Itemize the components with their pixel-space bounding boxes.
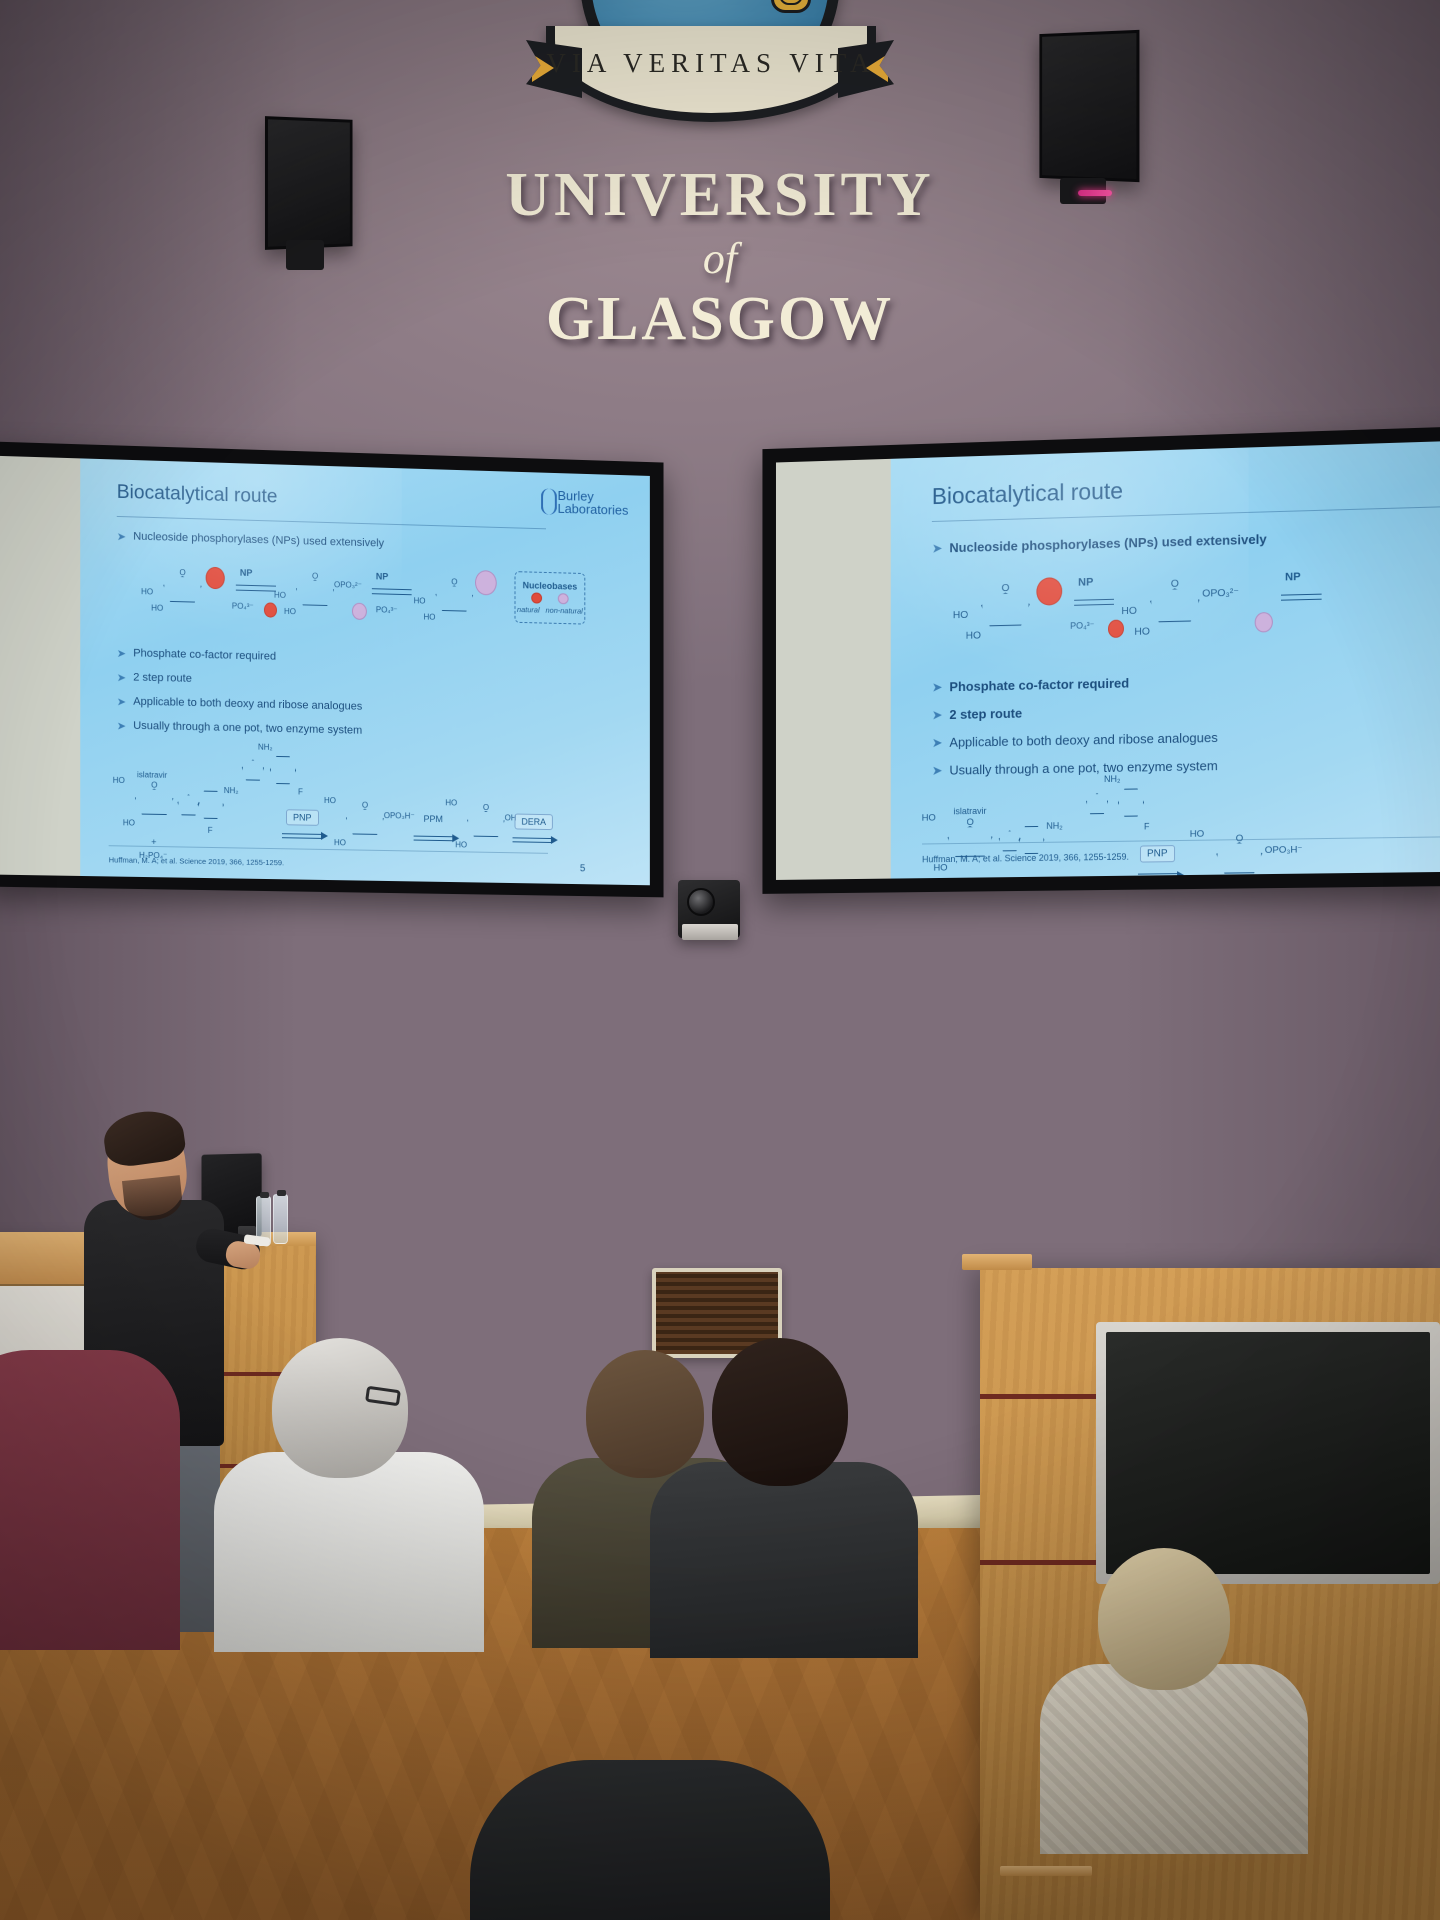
atom-nh2-2: NH₂	[258, 743, 273, 752]
bullet-text: Applicable to both deoxy and ribose anal…	[133, 696, 362, 713]
enzyme-box-pnp: PNP	[286, 809, 319, 826]
university-word: UNIVERSITY	[470, 160, 970, 231]
atom-o: O	[179, 568, 185, 577]
bullet-chevron-icon: ➤	[932, 735, 943, 751]
university-crest: VIA VERITAS VITA	[520, 0, 900, 180]
sugar-phosphate: HO HO O OPO₃H⁻	[1216, 842, 1262, 874]
left-screen-surface: Biocatalytical route Burley Laboratories…	[0, 456, 650, 885]
speaker-led-indicator	[1078, 190, 1112, 196]
atom-ho: HO	[445, 798, 457, 807]
enzyme-label-np-1: NP	[1078, 576, 1093, 588]
university-wall-lettering: UNIVERSITY of GLASGOW	[470, 160, 970, 355]
camera-lens-icon	[687, 888, 715, 916]
bullet-chevron-icon: ➤	[117, 671, 126, 684]
bullet-text: Nucleoside phosphorylases (NPs) used ext…	[949, 532, 1266, 556]
atom-o-2: O	[312, 572, 318, 581]
bullet-1: ➤ Phosphate co-factor required	[117, 647, 276, 664]
bullet-4: ➤ Usually through a one pot, two enzyme …	[932, 758, 1218, 779]
atom-o: O	[483, 803, 489, 812]
audience-member-blonde-head	[1098, 1548, 1230, 1690]
wall-speaker-left	[265, 116, 353, 250]
atom-ho: HO	[455, 840, 467, 849]
bullet-4: ➤ Usually through a one pot, two enzyme …	[117, 719, 362, 737]
bullet-text: Phosphate co-factor required	[133, 647, 276, 662]
atom-o-3: O	[451, 577, 457, 586]
crest-motto-ribbon: VIA VERITAS VITA	[520, 20, 900, 150]
atom-ho-2: HO	[151, 603, 163, 612]
of-word: of	[470, 233, 970, 284]
audience-member-grey-shoulders	[214, 1452, 484, 1652]
atom-ho: HO	[966, 629, 981, 641]
atom-nh2: NH₂	[224, 786, 239, 795]
atom-ho: HO	[953, 609, 968, 621]
cabinet-monitor-screen	[1106, 1332, 1430, 1574]
bullet-0: ➤ Nucleoside phosphorylases (NPs) used e…	[117, 530, 384, 551]
cofactor-label-1: PO₄³⁻	[1070, 620, 1094, 632]
camera-mount-base	[682, 924, 738, 940]
equilibrium-arrow-1	[236, 582, 276, 595]
atom-ho: HO	[324, 796, 336, 805]
bullet-chevron-icon: ➤	[932, 707, 943, 723]
bullet-chevron-icon: ➤	[932, 763, 943, 779]
legend-nonnatural-label: non-natural	[546, 606, 583, 616]
equilibrium-arrow-2	[372, 585, 412, 598]
cabinet-handle[interactable]	[1000, 1866, 1092, 1876]
cofactor-label-2: PO₄³⁻	[376, 605, 398, 615]
audience-member-brown-head	[586, 1350, 704, 1478]
sugar-2: HO HO O OPO₃²⁻	[296, 579, 334, 606]
atom-o: O	[966, 816, 973, 827]
nucleobase-released-blob	[1108, 620, 1124, 638]
phosphate-label: OPO₃²⁻	[334, 580, 362, 590]
islatravir-sugar: HO HO O	[135, 788, 173, 815]
audience-member-blonde-shoulders	[1040, 1664, 1308, 1854]
nucleobase-released-blob	[264, 602, 277, 617]
audience-member-maroon	[0, 1350, 180, 1650]
bullet-3: ➤ Applicable to both deoxy and ribose an…	[117, 695, 362, 714]
dna-helix-icon	[541, 489, 553, 515]
slide-title-rule	[117, 516, 546, 529]
left-projection-screen: Biocatalytical route Burley Laboratories…	[0, 441, 664, 897]
bullet-chevron-icon: ➤	[932, 679, 943, 695]
bullet-text: Nucleoside phosphorylases (NPs) used ext…	[133, 531, 384, 550]
reaction-arrow-1	[1138, 871, 1184, 879]
legend-caption: Nucleobases	[523, 580, 578, 591]
enzyme-label-np-2: NP	[1285, 571, 1301, 584]
top-reaction-scheme: HO HO O NP PO₄³⁻ HO HO O OPO₃²⁻	[143, 559, 562, 642]
slide-right: Biocatalytical route ➤ Nucleoside phosph…	[891, 441, 1440, 878]
glasgow-word: GLASGOW	[470, 284, 970, 355]
nucleobase-nonnatural-blob-in	[352, 603, 367, 620]
burley-laboratories-logo: Burley Laboratories	[541, 488, 629, 517]
bullet-text: Usually through a one pot, two enzyme sy…	[949, 758, 1217, 778]
atom-ho-6: HO	[424, 612, 436, 621]
logo-text: Burley Laboratories	[558, 489, 629, 517]
slide-title: Biocatalytical route	[932, 477, 1123, 510]
crest-bell-icon	[771, 0, 811, 13]
atom-o: O	[1236, 832, 1244, 843]
slide-left: Biocatalytical route Burley Laboratories…	[80, 458, 650, 885]
bottom-synthesis-scheme: islatravir HO HO O NH₂ NH₂ F	[918, 782, 1440, 879]
lecture-hall-photo: VIA VERITAS VITA UNIVERSITY of GLASGOW B…	[0, 0, 1440, 1920]
right-projection-screen: Biocatalytical route ➤ Nucleoside phosph…	[762, 426, 1440, 893]
bullet-text: 2 step route	[949, 706, 1022, 722]
wall-speaker-right	[1039, 30, 1139, 182]
audience-member-dark-shoulders	[650, 1462, 918, 1658]
atom-f: F	[208, 826, 213, 835]
atom-ho: HO	[123, 818, 135, 827]
atom-ho: HO	[922, 812, 936, 823]
cofactor-label-1: PO₄³⁻	[232, 602, 254, 612]
bullet-0: ➤ Nucleoside phosphorylases (NPs) used e…	[932, 532, 1267, 557]
atom-ho-5: HO	[414, 596, 426, 605]
audience-member-dark-top	[470, 1760, 830, 1920]
sugar-2: HO HO O OPO₃²⁻	[1150, 588, 1200, 623]
legend-labels: natural non-natural	[517, 605, 583, 616]
atom-nh2-2: NH₂	[1104, 774, 1120, 784]
sugar-3: HO HO O	[435, 585, 473, 612]
top-reaction-scheme: HO HO O NP PO₄³⁻ HO HO O OPO₃²⁻	[955, 562, 1440, 661]
cabinet-monitor	[1096, 1322, 1440, 1584]
logo-line-2: Laboratories	[558, 502, 629, 517]
lecture-capture-camera	[678, 880, 740, 938]
legend-swatches	[531, 592, 568, 604]
atom-f-2: F	[1144, 821, 1150, 831]
bullet-text: Usually through a one pot, two enzyme sy…	[133, 720, 362, 737]
bullet-chevron-icon: ➤	[117, 719, 126, 732]
cabinet-lip	[962, 1254, 1032, 1270]
equilibrium-arrow-2	[1281, 591, 1322, 604]
bullet-chevron-icon: ➤	[117, 647, 126, 660]
legend-natural-label: natural	[517, 605, 540, 615]
nucleobases-legend: Nucleobases natural non-natural	[515, 571, 586, 624]
bullet-text: 2 step route	[133, 671, 192, 684]
atom-o: O	[362, 801, 368, 810]
islatravir-label: islatravir	[137, 770, 167, 780]
bullet-2: ➤ 2 step route	[932, 706, 1022, 724]
islatravir-purine	[177, 787, 223, 822]
atom-f-2: F	[298, 787, 303, 796]
islatravir-sugar: HO HO O	[948, 826, 993, 858]
opo3h-label: OPO₃H⁻	[1265, 844, 1303, 855]
bullet-chevron-icon: ➤	[117, 530, 126, 543]
atom-nh2: NH₂	[1046, 821, 1062, 831]
atom-ho-4: HO	[284, 607, 296, 616]
atom-ho: HO	[1134, 625, 1150, 637]
nucleobase-natural-blob-1	[1036, 577, 1062, 606]
atom-ho: HO	[1190, 828, 1204, 839]
opo3h-label: OPO₃H⁻	[384, 811, 415, 821]
reaction-arrow-2	[414, 834, 460, 844]
bullet-chevron-icon: ➤	[117, 695, 126, 708]
free-base-purine	[1086, 785, 1144, 828]
sugar-oh: HO HO O OH	[467, 811, 505, 838]
atom-ho: HO	[141, 587, 153, 596]
equilibrium-arrow-1	[1074, 596, 1114, 609]
atom-o: O	[151, 781, 157, 790]
right-screen-surface: Biocatalytical route ➤ Nucleoside phosph…	[776, 441, 1440, 880]
atom-ho: HO	[1121, 605, 1137, 617]
atom-o: O	[1002, 582, 1010, 594]
sugar-1: HO HO O	[981, 592, 1030, 627]
reaction-arrow-1	[282, 831, 328, 841]
bullet-1: ➤ Phosphate co-factor required	[932, 676, 1129, 696]
bullet-text: Applicable to both deoxy and ribose anal…	[949, 730, 1217, 750]
sugar-1: HO HO O	[163, 576, 201, 603]
nucleobase-natural-blob-1	[206, 567, 225, 590]
islatravir-label: islatravir	[953, 806, 986, 816]
bullet-3: ➤ Applicable to both deoxy and ribose an…	[932, 730, 1218, 751]
water-bottle	[273, 1194, 288, 1244]
bullet-text: Phosphate co-factor required	[949, 676, 1129, 695]
reaction-arrow-3	[513, 835, 558, 845]
enzyme-box-dera: DERA	[515, 814, 553, 831]
enzyme-label-np-1: NP	[240, 568, 253, 578]
atom-ho-3: HO	[274, 591, 286, 600]
atom-ho: HO	[334, 838, 346, 847]
legend-nonnatural-swatch	[558, 593, 569, 604]
audience-member-grey-head	[272, 1338, 408, 1478]
bullet-chevron-icon: ➤	[932, 541, 943, 557]
slide-title: Biocatalytical route	[117, 482, 278, 509]
free-base-purine	[242, 752, 296, 793]
nucleobase-nonnatural-blob-in	[1255, 612, 1273, 633]
crest-motto-text: VIA VERITAS VITA	[546, 48, 876, 79]
phosphate-label: OPO₃²⁻	[1202, 587, 1239, 600]
enzyme-box-pnp: PNP	[1140, 845, 1175, 862]
slide-page-number: 5	[580, 863, 585, 874]
atom-o: O	[1171, 578, 1179, 590]
enzyme-label-np-2: NP	[376, 571, 388, 581]
audience-member-dark-head	[712, 1338, 848, 1486]
slide-citation: Huffman, M. A; et al. Science 2019, 366,…	[109, 855, 284, 867]
nucleobase-nonnatural-blob-out	[475, 570, 497, 595]
bullet-2: ➤ 2 step route	[117, 671, 192, 686]
speaker-mount-left	[286, 240, 324, 270]
atom-ho: HO	[113, 776, 125, 785]
enzyme-box-ppm: PPM	[418, 812, 449, 827]
sugar-phosphate: HO HO O OPO₃H⁻	[346, 808, 384, 835]
legend-natural-swatch	[531, 592, 542, 603]
